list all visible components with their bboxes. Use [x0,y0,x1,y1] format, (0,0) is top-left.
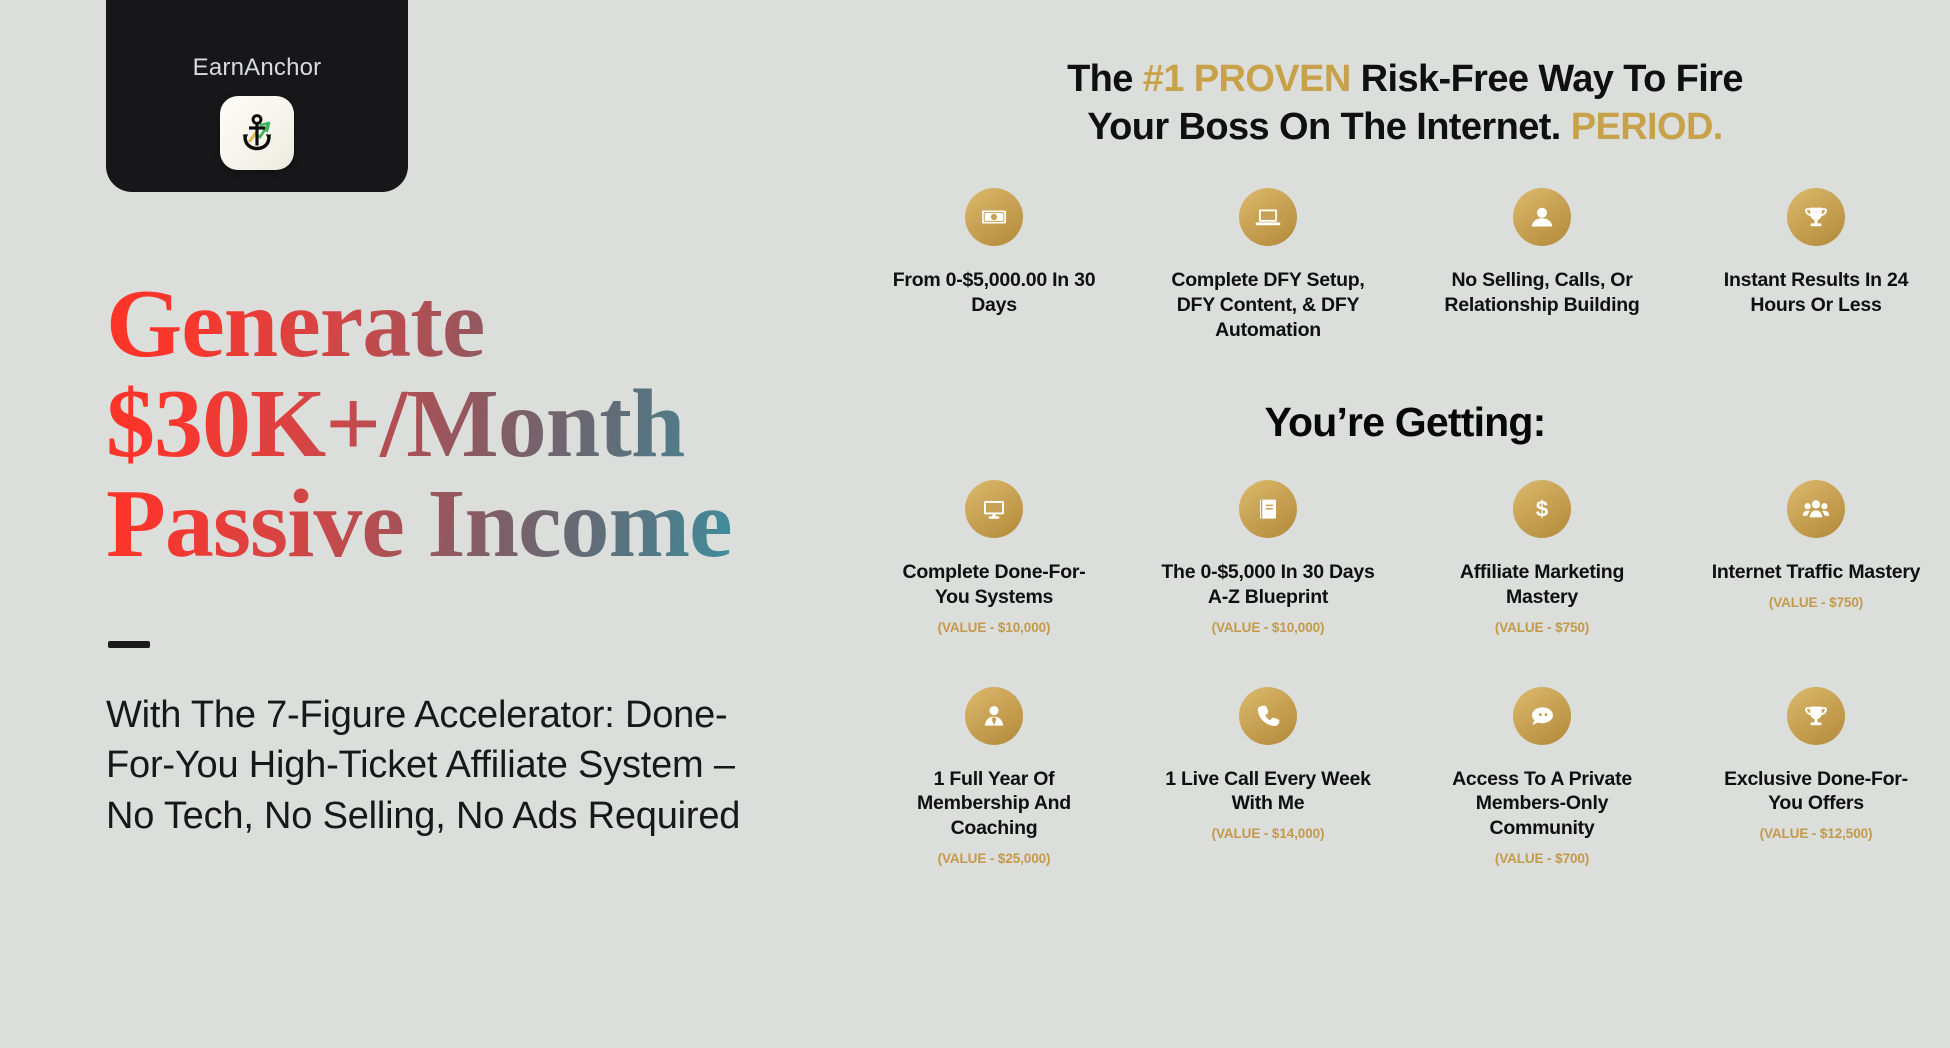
deliverable-label: Affiliate Marketing Mastery [1435,560,1650,610]
benefit-item: Complete DFY Setup, DFY Content, & DFY A… [1134,188,1402,343]
deliverable-label: 1 Full Year Of Membership And Coaching [887,767,1102,842]
deliverable-value: (VALUE - $25,000) [938,851,1051,866]
deliverable-value: (VALUE - $750) [1495,620,1589,635]
deliverable-item: Complete Done-For-You Systems (VALUE - $… [860,480,1128,635]
deliverable-item: 1 Live Call Every Week With Me (VALUE - … [1134,687,1402,867]
deliverable-label: 1 Live Call Every Week With Me [1161,767,1376,817]
user-person-icon [1513,188,1571,246]
benefit-item: Instant Results In 24 Hours Or Less [1682,188,1950,343]
benefit-item: From 0-$5,000.00 In 30 Days [860,188,1128,343]
group-people-icon [1787,480,1845,538]
offer-panel: The #1 PROVEN Risk-Free Way To Fire Your… [860,0,1950,1048]
benefits-row: From 0-$5,000.00 In 30 Days Complete DFY… [860,188,1950,343]
phone-call-icon [1239,687,1297,745]
promo-line2-pre: Your Boss On The Internet. [1087,106,1570,148]
deliverable-label: The 0-$5,000 In 30 Days A-Z Blueprint [1161,560,1376,610]
anchor-growth-icon [220,96,294,170]
chat-bubble-icon [1513,687,1571,745]
deliverable-item: Access To A Private Members-Only Communi… [1408,687,1676,867]
hero-section: Generate $30K+/Month Passive Income With… [106,275,846,841]
deliverables-row-2: 1 Full Year Of Membership And Coaching (… [860,687,1950,867]
deliverable-label: Internet Traffic Mastery [1712,560,1921,585]
deliverable-value: (VALUE - $10,000) [1212,620,1325,635]
promo-line1-post: Risk-Free Way To Fire [1351,58,1743,100]
trophy-icon [1787,687,1845,745]
book-icon [1239,480,1297,538]
promo-line1-pre: The [1067,58,1143,100]
benefit-item: No Selling, Calls, Or Relationship Build… [1408,188,1676,343]
section-title: You’re Getting: [860,399,1950,446]
brand-card: EarnAnchor [106,0,408,192]
page-title: Generate $30K+/Month Passive Income [106,275,846,575]
deliverable-item: Exclusive Done-For-You Offers (VALUE - $… [1682,687,1950,867]
desktop-monitor-icon [965,480,1023,538]
deliverable-item: The 0-$5,000 In 30 Days A-Z Blueprint (V… [1134,480,1402,635]
brand-name: EarnAnchor [193,54,322,82]
person-tie-icon [965,687,1023,745]
promo-headline: The #1 PROVEN Risk-Free Way To Fire Your… [860,56,1950,152]
deliverable-value: (VALUE - $700) [1495,851,1589,866]
laptop-icon [1239,188,1297,246]
benefit-label: Complete DFY Setup, DFY Content, & DFY A… [1161,268,1376,343]
deliverable-value: (VALUE - $10,000) [938,620,1051,635]
cash-banknote-icon [965,188,1023,246]
benefit-label: No Selling, Calls, Or Relationship Build… [1435,268,1650,318]
deliverable-value: (VALUE - $750) [1769,595,1863,610]
dollar-sign-icon: $ [1513,480,1571,538]
deliverable-item: 1 Full Year Of Membership And Coaching (… [860,687,1128,867]
deliverable-label: Complete Done-For-You Systems [887,560,1102,610]
deliverable-label: Exclusive Done-For-You Offers [1709,767,1924,817]
divider-rule [108,641,150,648]
trophy-icon [1787,188,1845,246]
deliverable-value: (VALUE - $14,000) [1212,826,1325,841]
promo-headline-line-2: Your Boss On The Internet. PERIOD. [888,104,1922,152]
deliverable-label: Access To A Private Members-Only Communi… [1435,767,1650,842]
deliverable-item: $ Affiliate Marketing Mastery (VALUE - $… [1408,480,1676,635]
promo-line1-highlight: #1 PROVEN [1143,58,1351,100]
deliverable-value: (VALUE - $12,500) [1760,826,1873,841]
hero-subtitle: With The 7-Figure Accelerator: Done-For-… [106,690,746,842]
deliverable-item: Internet Traffic Mastery (VALUE - $750) [1682,480,1950,635]
deliverables-row-1: Complete Done-For-You Systems (VALUE - $… [860,480,1950,635]
benefit-label: From 0-$5,000.00 In 30 Days [887,268,1102,318]
svg-text:$: $ [1536,496,1549,521]
promo-headline-line-1: The #1 PROVEN Risk-Free Way To Fire [888,56,1922,104]
benefit-label: Instant Results In 24 Hours Or Less [1709,268,1924,318]
promo-line2-highlight: PERIOD. [1571,106,1723,148]
